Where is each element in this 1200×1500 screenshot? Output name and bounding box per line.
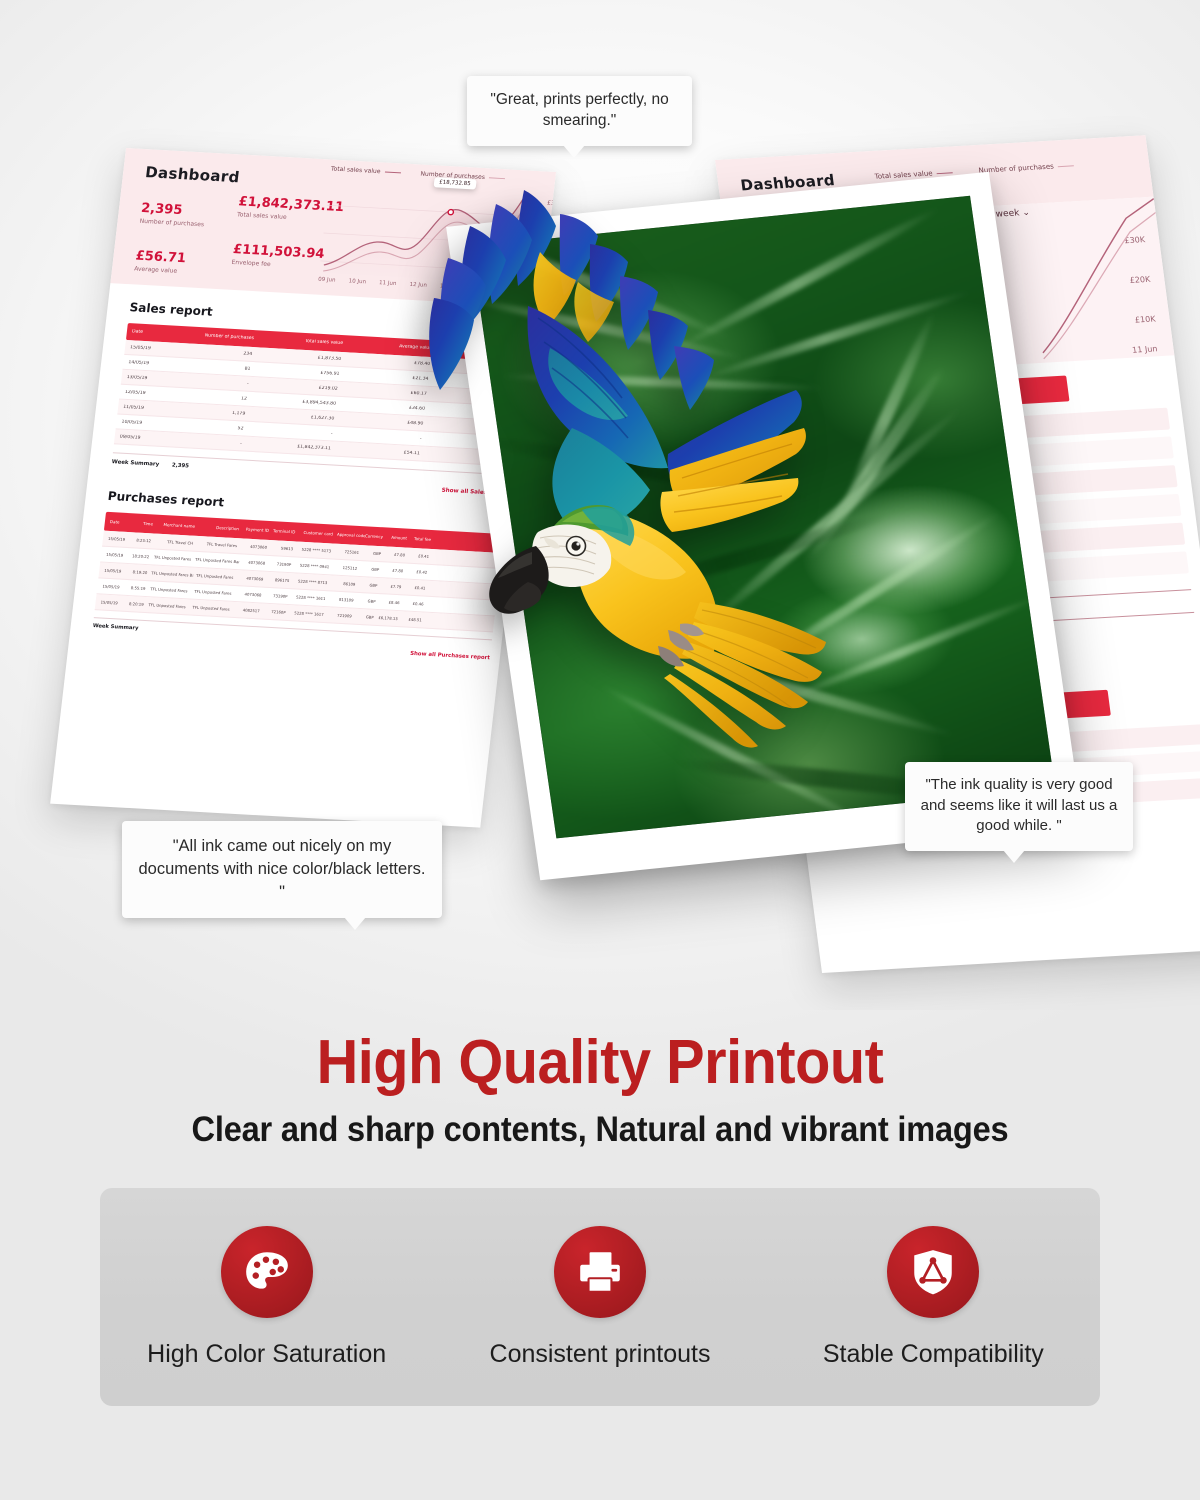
cell: £0.46: [403, 600, 428, 606]
cell-number-of-purchases: 234: [167, 347, 257, 357]
color-palette-icon: [221, 1226, 313, 1318]
promo-graphic: Dashboard Total sales value Number of pu…: [0, 0, 1200, 1500]
col-number-of-purchases[interactable]: Number of purchases: [169, 331, 259, 341]
y-tick-30k: £30K: [547, 200, 556, 208]
cell: 725161: [335, 549, 364, 556]
cell-total-sales-value: £3,894,543.80: [251, 396, 341, 406]
cell-average-value: £34.60: [340, 401, 430, 411]
cell: 4073060: [241, 543, 272, 550]
metric-average-value: £56.71 Average value: [134, 249, 187, 276]
cell: GBP: [355, 614, 378, 620]
cell: TFL Unposted Fares: [147, 602, 190, 609]
cell: TFL Unposted Fares: [149, 586, 192, 593]
cell: TFL Travel Fares: [197, 541, 242, 548]
col-terminal-id[interactable]: Terminal ID: [273, 528, 300, 534]
cell-total-sales-value: £1,873.50: [256, 352, 346, 362]
cell-date: 14/05/19: [123, 359, 166, 366]
cell: 8:20:19: [121, 601, 148, 607]
x-tick: 09 Jun: [318, 277, 336, 284]
cell: 15/05/19: [103, 536, 130, 542]
testimonial-bubble-left: "All ink came out nicely on my documents…: [122, 821, 442, 918]
feature-panel: High Color Saturation Consistent printou…: [100, 1188, 1100, 1406]
cell: £7.79: [381, 583, 406, 589]
cell: £48.51: [401, 616, 426, 622]
cell: £7.80: [385, 551, 410, 557]
metric-number-of-purchases: 2,395 Number of purchases: [139, 201, 206, 228]
cell: GBP: [363, 550, 386, 556]
cell: 15/05/19: [101, 552, 128, 558]
cell: GBP: [361, 566, 384, 572]
cell-total-sales-value: £1,842,373.11: [246, 441, 336, 451]
cell: 5228 **** 1617: [289, 610, 328, 617]
cell: 5228 **** 8713: [293, 578, 332, 585]
cell-date: 10/05/19: [116, 419, 159, 426]
cell: TFL Unposted Fares: [153, 554, 196, 561]
cell-average-value: -: [336, 431, 426, 441]
cell-total-sales-value: £756.91: [254, 367, 344, 377]
cell: 15/05/19: [95, 599, 122, 605]
col-currency[interactable]: Currency: [365, 533, 388, 539]
cell: TFL Travel CH: [155, 539, 198, 546]
cell: 8:55:19: [123, 585, 150, 591]
cell-date: 11/05/19: [118, 404, 161, 411]
cell: 8:19:20: [125, 569, 152, 575]
feature-label: High Color Saturation: [147, 1340, 386, 1369]
feature-high-color-saturation: High Color Saturation: [100, 1226, 433, 1369]
cell: £8.46: [379, 599, 404, 605]
cell: 721909: [327, 612, 356, 619]
cell: 5228 **** 5173: [297, 547, 336, 554]
cell-date: 12/05/19: [120, 389, 163, 396]
testimonial-bubble-right: "The ink quality is very good and seems …: [905, 762, 1133, 851]
col-average-value[interactable]: Average value: [347, 341, 437, 351]
cell-total-sales-value: -: [247, 426, 337, 436]
headline-block: High Quality Printout Clear and sharp co…: [0, 1030, 1200, 1150]
col-amount[interactable]: Amount: [387, 535, 412, 541]
col-payment-id[interactable]: Payment ID: [243, 526, 274, 533]
cell: 4073069: [237, 575, 268, 582]
cell-average-value: £48.90: [338, 416, 428, 426]
page-subtitle: Clear and sharp contents, Natural and vi…: [42, 1110, 1158, 1150]
cell-number-of-purchases: 52: [158, 421, 248, 431]
cell: 15/05/19: [99, 567, 126, 573]
cell: GBP: [359, 582, 382, 588]
cell: 5228 **** 1611: [291, 594, 330, 601]
x-tick: 11 Jun: [379, 280, 397, 287]
col-merchant-name[interactable]: Merchant name: [157, 522, 200, 529]
cell: £0.42: [407, 569, 432, 575]
legend-line-swatch: [384, 171, 400, 173]
cell: 8:23:12: [129, 537, 156, 543]
testimonial-bubble-top: "Great, prints perfectly, no smearing.": [467, 76, 692, 146]
shield-stability-icon: [887, 1226, 979, 1318]
cell: 4073068: [239, 559, 270, 566]
cell-number-of-purchases: -: [157, 436, 247, 446]
cell: £0.41: [405, 585, 430, 591]
cell: TFL Unposted Fares: [189, 604, 234, 611]
col-approval-code[interactable]: Approval code: [337, 532, 366, 539]
legend-total-sales-value: Total sales value: [331, 165, 401, 176]
col-customer-card[interactable]: Customer card: [299, 530, 338, 537]
cell: TFL Unposted Fares Barcelona Spain: [195, 557, 240, 564]
cell: 15/05/19: [97, 583, 124, 589]
cell: TFL Unposted Fares: [193, 573, 238, 580]
cell-average-value: £21.34: [343, 372, 433, 382]
col-date[interactable]: Date: [105, 519, 132, 525]
photo-image: [471, 196, 1055, 839]
col-total-fee[interactable]: Total fee: [411, 536, 436, 542]
summary-label: Week Summary: [111, 459, 172, 468]
summary-label: Week Summary: [92, 623, 138, 632]
cell: TFL Unposted Fares: [191, 589, 236, 596]
printer-icon: [554, 1226, 646, 1318]
legend-line-swatch-faint: [489, 177, 505, 179]
cell: 4073068: [235, 591, 266, 598]
cell: 18:20:22: [127, 553, 154, 559]
x-tick: 12 Jun: [409, 282, 427, 289]
cell: 59613: [271, 545, 298, 551]
cell: 73190P: [269, 561, 296, 567]
cell: 86109: [331, 580, 360, 587]
col-time[interactable]: Time: [131, 520, 158, 526]
cell-number-of-purchases: 81: [165, 362, 255, 372]
cell: £6,178.13: [377, 615, 402, 621]
legend-line-swatch-faint: [1058, 165, 1074, 167]
legend-number-of-purchases: Number of purchases: [978, 161, 1074, 174]
legend-line-swatch: [937, 172, 953, 174]
cell: 813109: [329, 596, 358, 603]
cell-total-sales-value: £219.02: [252, 382, 342, 392]
cell: 72160P: [263, 609, 290, 615]
feature-stable-compatibility: Stable Compatibility: [767, 1226, 1100, 1369]
metric-envelope-fee: £111,503.94 Envelope fee: [231, 242, 325, 271]
cell-number-of-purchases: -: [163, 377, 253, 387]
cell-average-value: £78.40: [345, 357, 435, 367]
sales-report-body: 15/05/19234£1,873.50£78.40£46.4114/05/19…: [114, 340, 524, 467]
cell-total-sales-value: £1,627.30: [249, 411, 339, 421]
cell-average-value: £60.17: [341, 387, 431, 397]
cell-number-of-purchases: 12: [162, 391, 252, 401]
cell-date: 15/05/19: [125, 344, 168, 351]
cell: 125112: [333, 565, 362, 572]
cell: £0.41: [409, 553, 434, 559]
page-title: High Quality Printout: [42, 1030, 1158, 1096]
cell: GBP: [357, 598, 380, 604]
hero-scene: Dashboard Total sales value Number of pu…: [0, 0, 1200, 1010]
cell: 73190P: [265, 593, 292, 599]
cell: £7.80: [383, 567, 408, 573]
cell: 5228 **** 0941: [295, 562, 334, 569]
x-tick: 10 Jun: [348, 278, 366, 285]
cell-date: 13/05/19: [121, 374, 164, 381]
feature-label: Stable Compatibility: [823, 1340, 1044, 1369]
col-description[interactable]: Description: [199, 524, 244, 531]
col-date[interactable]: Date: [127, 329, 170, 336]
col-total-sales-value[interactable]: Total sales value: [258, 336, 348, 346]
cell: 4082517: [233, 607, 264, 614]
cell-date: 09/05/19: [115, 434, 158, 441]
feature-label: Consistent printouts: [490, 1340, 711, 1369]
cell-number-of-purchases: 1,179: [160, 406, 250, 416]
cell: 89617S: [267, 577, 294, 583]
purchases-report-section: Purchases report DateTimeMerchant nameDe…: [69, 474, 518, 662]
cell-average-value: £54.11: [335, 446, 425, 456]
cell: TFL Unposted Fares Barcelona Spain: [151, 570, 194, 577]
feature-consistent-printouts: Consistent printouts: [433, 1226, 766, 1369]
